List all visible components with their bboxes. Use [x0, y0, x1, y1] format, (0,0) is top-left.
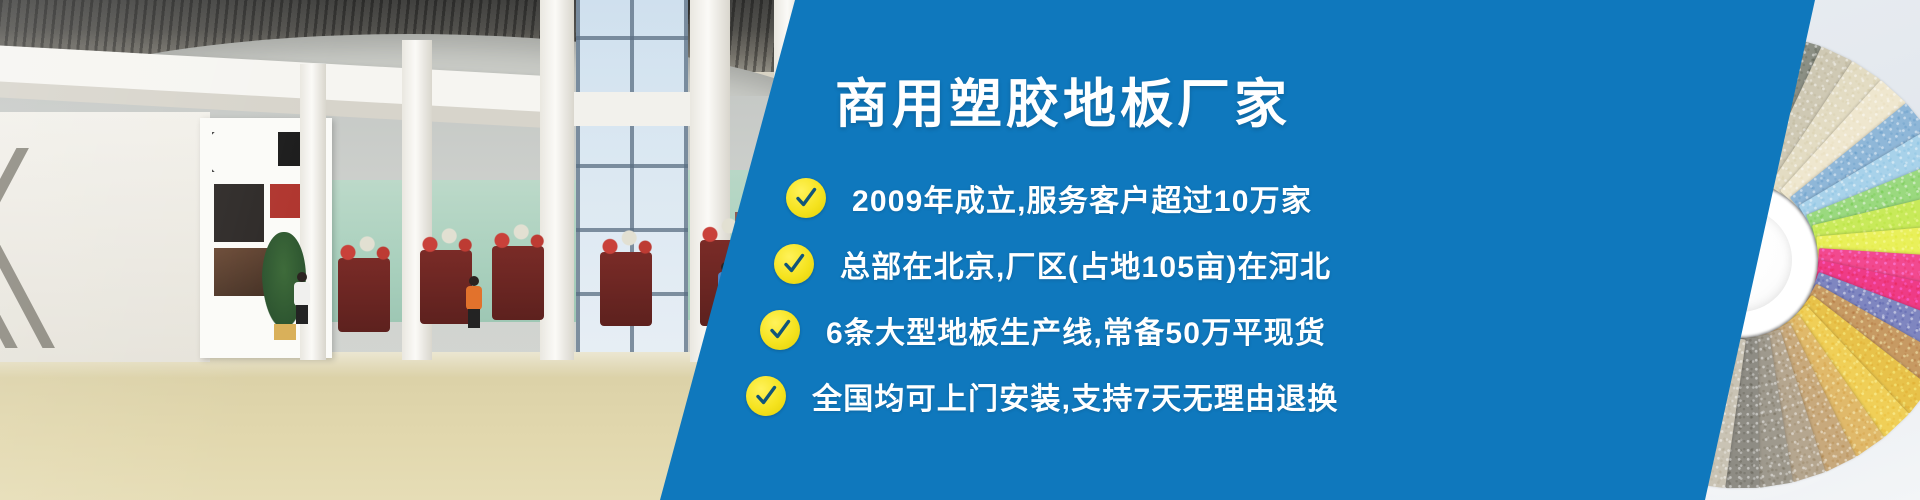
- list-item: 6条大型地板生产线,常备50万平现货: [760, 308, 1326, 352]
- list-item: 2009年成立,服务客户超过10万家: [786, 176, 1312, 220]
- list-item-label: 2009年成立,服务客户超过10万家: [852, 176, 1312, 220]
- promo-banner: 商用塑胶地板厂家 2009年成立,服务客户超过10万家 总部在北京,厂区(占地1…: [0, 0, 1920, 500]
- list-item: 总部在北京,厂区(占地105亩)在河北: [774, 242, 1331, 286]
- check-circle-icon: [786, 178, 826, 218]
- banner-content: 商用塑胶地板厂家 2009年成立,服务客户超过10万家 总部在北京,厂区(占地1…: [0, 0, 1920, 500]
- check-circle-icon: [746, 376, 786, 416]
- banner-title: 商用塑胶地板厂家: [835, 62, 1291, 138]
- check-circle-icon: [760, 310, 800, 350]
- check-circle-icon: [774, 244, 814, 284]
- list-item-label: 总部在北京,厂区(占地105亩)在河北: [840, 242, 1331, 286]
- list-item-label: 6条大型地板生产线,常备50万平现货: [826, 308, 1326, 352]
- list-item-label: 全国均可上门安装,支持7天无理由退换: [812, 374, 1339, 418]
- list-item: 全国均可上门安装,支持7天无理由退换: [746, 374, 1339, 418]
